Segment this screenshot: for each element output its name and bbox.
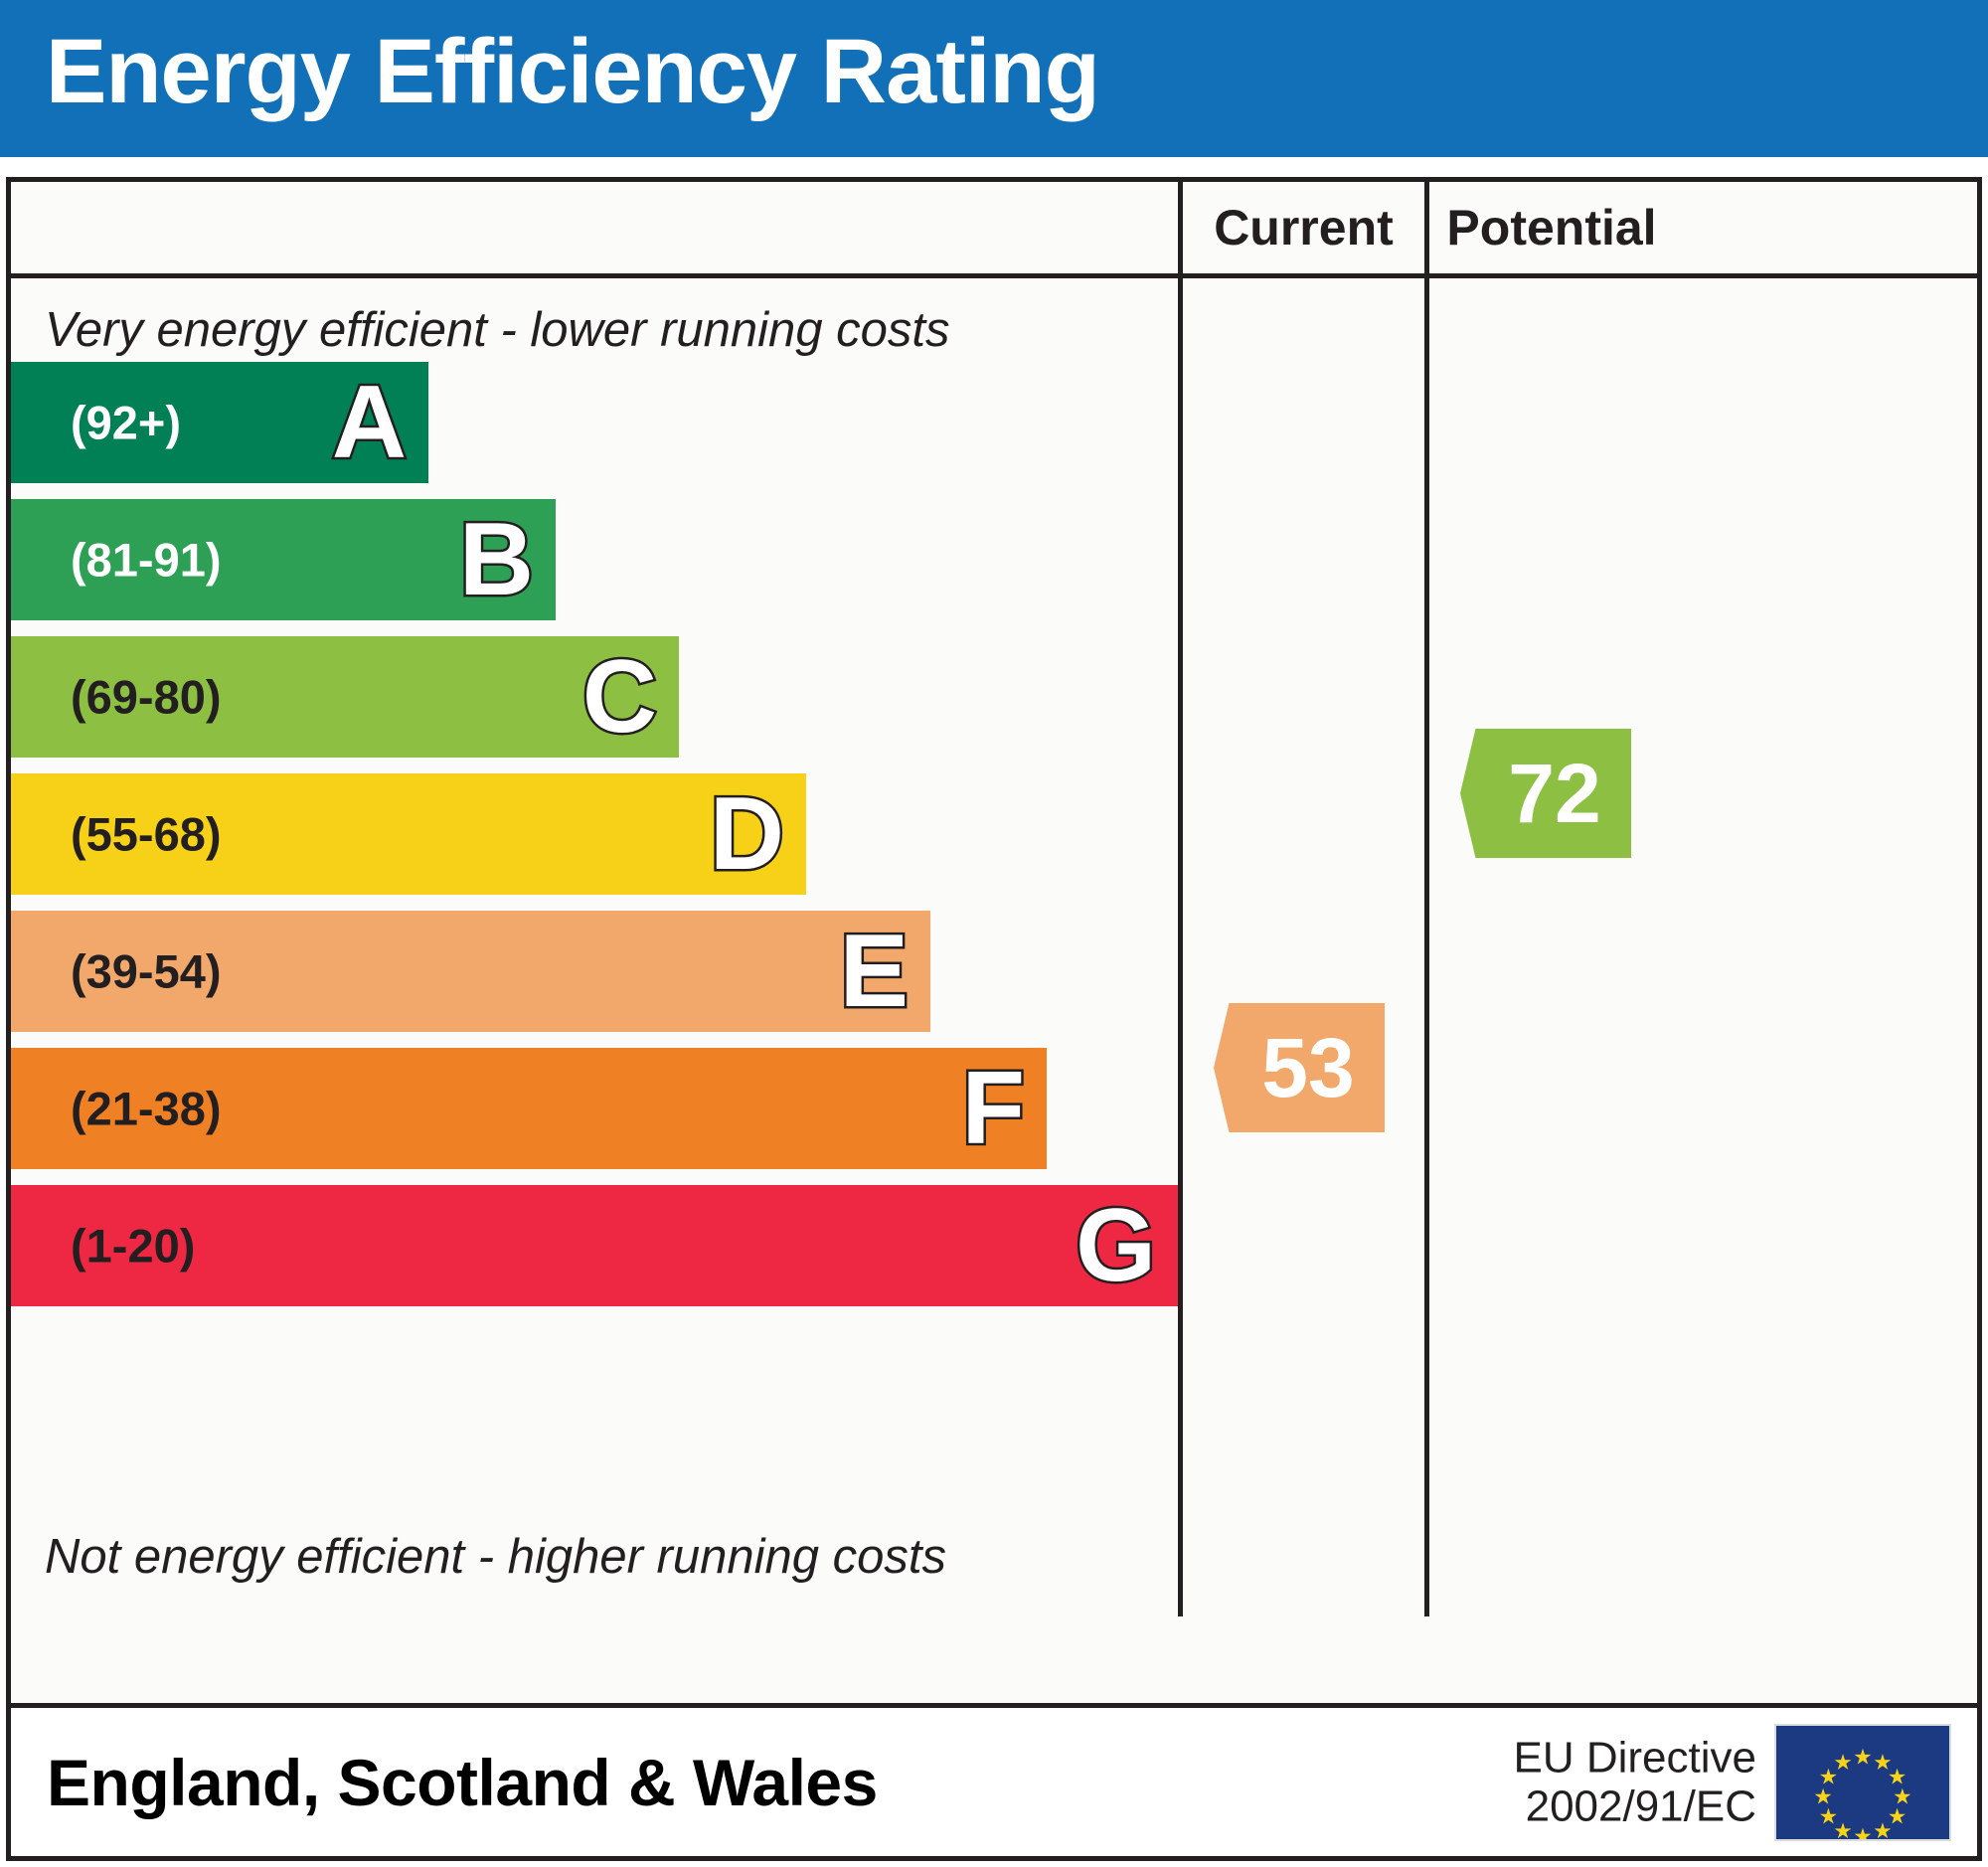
eu-flag-icon	[1774, 1724, 1951, 1841]
band-b-letter: B	[459, 508, 534, 611]
column-header-row: Current Potential	[11, 182, 1977, 278]
potential-rating-value: 72	[1508, 752, 1600, 835]
band-b-range: (81-91)	[71, 537, 222, 584]
caption-very-efficient: Very energy efficient - lower running co…	[45, 306, 950, 355]
band-e: (39-54) E	[11, 911, 930, 1032]
column-divider-1	[1178, 278, 1183, 1616]
energy-efficiency-rating-chart: Energy Efficiency Rating Current Potenti…	[0, 0, 1988, 1867]
band-a: (92+) A	[11, 362, 428, 483]
column-divider-2	[1424, 278, 1429, 1616]
column-header-current: Current	[1178, 182, 1424, 273]
band-f: (21-38) F	[11, 1048, 1047, 1169]
current-rating-indicator: 53	[1214, 1003, 1385, 1132]
band-c-range: (69-80)	[71, 674, 222, 721]
band-b: (81-91) B	[11, 499, 556, 620]
band-e-letter: E	[840, 920, 909, 1023]
potential-rating-indicator: 72	[1460, 729, 1631, 858]
band-d: (55-68) D	[11, 773, 806, 895]
footer-directive-line2: 2002/91/EC	[1514, 1782, 1757, 1831]
band-f-letter: F	[961, 1057, 1025, 1160]
footer-directive-line1: EU Directive	[1514, 1733, 1757, 1782]
footer-region-label: England, Scotland & Wales	[47, 1745, 878, 1820]
footer-directive: EU Directive 2002/91/EC	[1514, 1733, 1757, 1831]
band-c: (69-80) C	[11, 636, 679, 758]
band-g-letter: G	[1076, 1194, 1156, 1297]
caption-not-efficient: Not energy efficient - higher running co…	[45, 1533, 946, 1582]
band-e-range: (39-54)	[71, 948, 222, 995]
ratings-table: Current Potential Very energy efficient …	[6, 177, 1982, 1708]
bands-area: Very energy efficient - lower running co…	[11, 278, 1178, 1616]
band-c-letter: C	[582, 645, 657, 749]
column-header-potential: Potential	[1424, 182, 1674, 273]
page-title: Energy Efficiency Rating	[46, 26, 1099, 117]
band-d-letter: D	[710, 782, 784, 886]
band-f-range: (21-38)	[71, 1086, 222, 1132]
current-rating-value: 53	[1261, 1026, 1354, 1109]
band-g: (1-20) G	[11, 1185, 1178, 1306]
chart-header: Energy Efficiency Rating	[0, 0, 1988, 157]
band-a-range: (92+)	[71, 400, 181, 446]
band-a-letter: A	[332, 371, 407, 474]
chart-footer: England, Scotland & Wales EU Directive 2…	[6, 1708, 1982, 1861]
band-g-range: (1-20)	[71, 1223, 195, 1270]
band-d-range: (55-68)	[71, 811, 222, 858]
